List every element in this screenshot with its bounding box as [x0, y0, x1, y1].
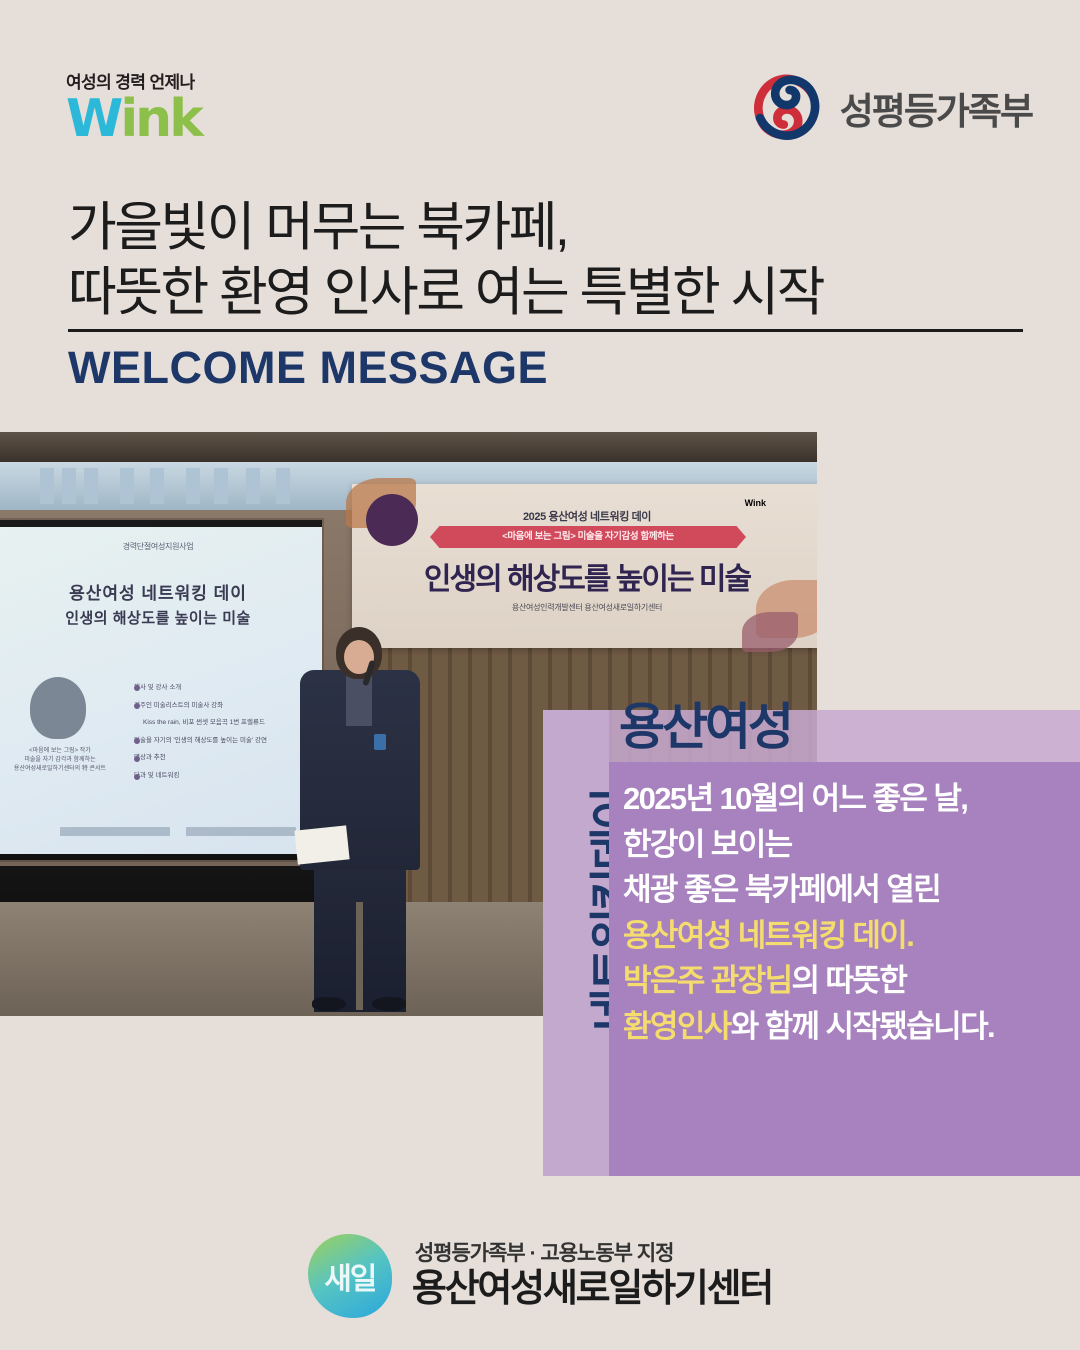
wink-w-glyph: W [66, 89, 120, 149]
title-line-1: 가을빛이 머무는 북카페, [68, 196, 1028, 261]
footer-designation: 성평등가족부 · 고용노동부 지정 [412, 1242, 772, 1265]
banner-main-title: 인생의 해상도를 높이는 미술 [352, 554, 817, 598]
government-name: 성평등가족부 [840, 81, 1032, 135]
panel-body-text: 2025년 10월의 어느 좋은 날,한강이 보이는채광 좋은 북카페에서 열린… [623, 776, 1073, 1049]
footer-text-block: 성평등가족부 · 고용노동부 지정 용산여성새로일하기센터 [412, 1242, 772, 1311]
highlighted-text: 용산여성 네트워킹 데이. [623, 918, 913, 953]
seil-logo-icon: 새일 [308, 1234, 392, 1318]
slide-title: 용산여성 네트워킹 데이 [0, 579, 322, 604]
title-english: WELCOME MESSAGE [68, 342, 1028, 394]
title-block: 가을빛이 머무는 북카페, 따뜻한 환영 인사로 여는 특별한 시작 WELCO… [68, 196, 1028, 394]
plain-text: 의 따뜻한 [792, 963, 907, 998]
slide-caption: <마음에 보는 그림> 작가 미술을 자기 감각과 함께하는 용산여성새로일하기… [10, 747, 110, 774]
panel-body-line: 한강이 보이는 [623, 822, 1073, 868]
wink-ink-glyph: ink [120, 89, 200, 149]
vertical-label-strip: 네트워킹데이 [543, 710, 609, 1176]
photo-ceiling [0, 432, 817, 462]
slide-portrait [30, 677, 86, 739]
plain-text: 채광 좋은 북카페에서 열린 [623, 872, 940, 907]
panel-body-line: 환영인사와 함께 시작됐습니다. [623, 1004, 1073, 1050]
panel-body-line: 용산여성 네트워킹 데이. [623, 913, 1073, 959]
title-divider [68, 329, 1023, 332]
slide-header-small: 경력단절여성지원사업 [0, 541, 322, 552]
banner-top-text: 2025 용산여성 네트워킹 데이 [352, 508, 817, 524]
page-header: 여성의 경력 언제나 Wink 성평등가족부 [0, 0, 1080, 175]
banner-footer-text: 용산여성인력개발센터 용산여성새로일하기센터 [352, 602, 817, 613]
title-line-2: 따뜻한 환영 인사로 여는 특별한 시작 [68, 261, 1028, 326]
banner-ribbon-text: <마음에 보는 그림> 미술을 자기감성 함께하는 [430, 526, 746, 548]
photo-projection-screen: 경력단절여성지원사업 용산여성 네트워킹 데이 인생의 해상도를 높이는 미술 … [0, 520, 322, 860]
wink-logo-block: 여성의 경력 언제나 Wink [66, 68, 201, 144]
plain-text: 2025년 10월의 어느 좋은 날, [623, 781, 967, 816]
taegeuk-icon [750, 72, 822, 144]
description-panel: 네트워킹데이 용산여성 2025년 10월의 어느 좋은 날,한강이 보이는채광… [543, 710, 1080, 1176]
banner-wink-mark: Wink [745, 498, 766, 508]
highlighted-text: 박은주 관장님 [623, 963, 792, 998]
panel-body-line: 박은주 관장님의 따뜻한 [623, 958, 1073, 1004]
highlighted-text: 환영인사 [623, 1009, 731, 1044]
slide-subtitle: 인생의 해상도를 높이는 미술 [0, 607, 322, 628]
government-logo-block: 성평등가족부 [750, 72, 1032, 144]
page-footer: 새일 성평등가족부 · 고용노동부 지정 용산여성새로일하기센터 [0, 1216, 1080, 1336]
wink-wordmark: Wink [66, 95, 201, 144]
photo-banner: Wink 2025 용산여성 네트워킹 데이 <마음에 보는 그림> 미술을 자… [352, 484, 817, 648]
panel-heading: 용산여성 [619, 702, 1079, 752]
plain-text: 한강이 보이는 [623, 827, 792, 862]
footer-center-name: 용산여성새로일하기센터 [412, 1269, 772, 1311]
plain-text: 와 함께 시작됐습니다. [731, 1009, 994, 1044]
panel-body-line: 채광 좋은 북카페에서 열린 [623, 867, 1073, 913]
panel-body-line: 2025년 10월의 어느 좋은 날, [623, 776, 1073, 822]
slide-bullet-list: 행사 및 강사 소개 김주인 미술리스트의 미술사 강좌 Kiss the ra… [134, 679, 304, 784]
